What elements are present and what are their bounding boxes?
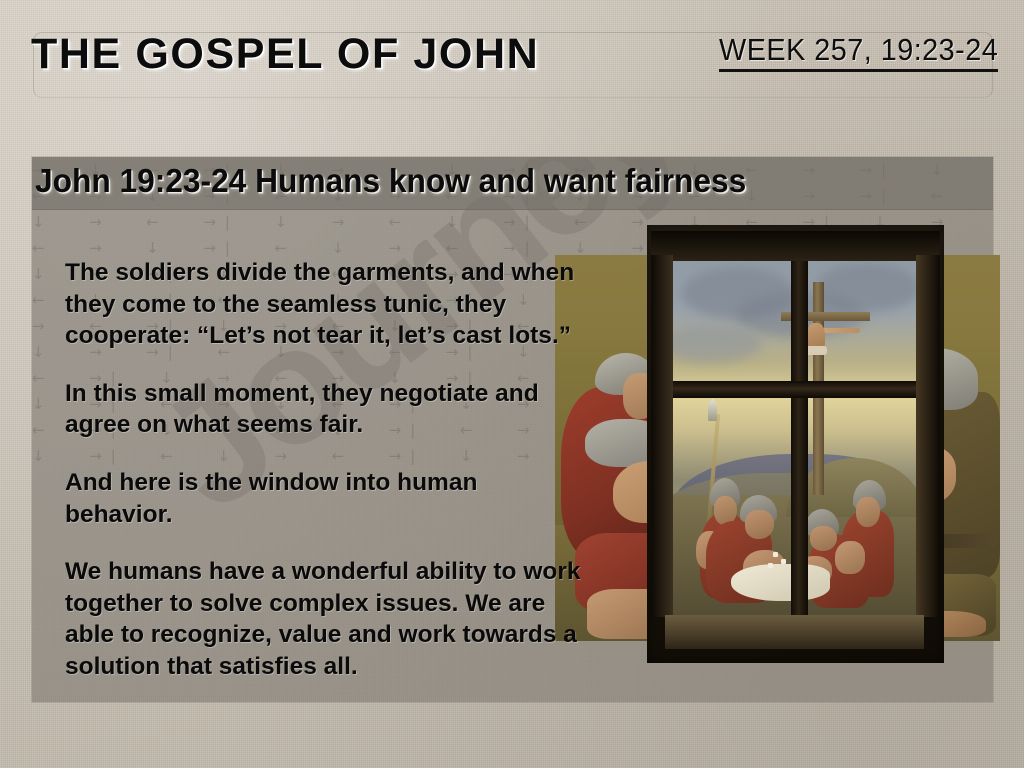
page-title: THE GOSPEL OF JOHN xyxy=(31,30,539,79)
lot-die xyxy=(773,552,778,557)
paragraph: The soldiers divide the garments, and wh… xyxy=(65,257,585,352)
window-reveal-left xyxy=(651,255,673,617)
paragraph: In this small moment, they negotiate and… xyxy=(65,378,585,441)
window-reveal-top xyxy=(651,231,940,261)
panel-title: John 19:23-24 Humans know and want fairn… xyxy=(35,162,746,200)
illustration-casting-lots xyxy=(555,255,1000,641)
paragraph: And here is the window into human behavi… xyxy=(65,467,585,530)
body-text: The soldiers divide the garments, and wh… xyxy=(65,257,585,683)
window-sill xyxy=(665,615,924,649)
lot-die xyxy=(768,563,773,568)
spear-tip xyxy=(708,399,717,421)
crucified-figure-loincloth xyxy=(805,346,827,355)
seamless-tunic-cloth xyxy=(731,564,831,601)
window-mullion-vertical xyxy=(791,253,808,619)
window-mullion-horizontal xyxy=(671,381,920,398)
window-frame xyxy=(647,225,944,663)
window-view-scene xyxy=(671,253,920,619)
window-soldier-crouching xyxy=(835,480,905,619)
week-reference-label: WEEK 257, 19:23-24 xyxy=(719,32,998,72)
lot-die xyxy=(781,559,786,564)
paragraph: We humans have a wonderful ability to wo… xyxy=(65,556,585,682)
window-reveal-right xyxy=(916,255,940,617)
slide: THE GOSPEL OF JOHN WEEK 257, 19:23-24 → … xyxy=(0,0,1024,768)
